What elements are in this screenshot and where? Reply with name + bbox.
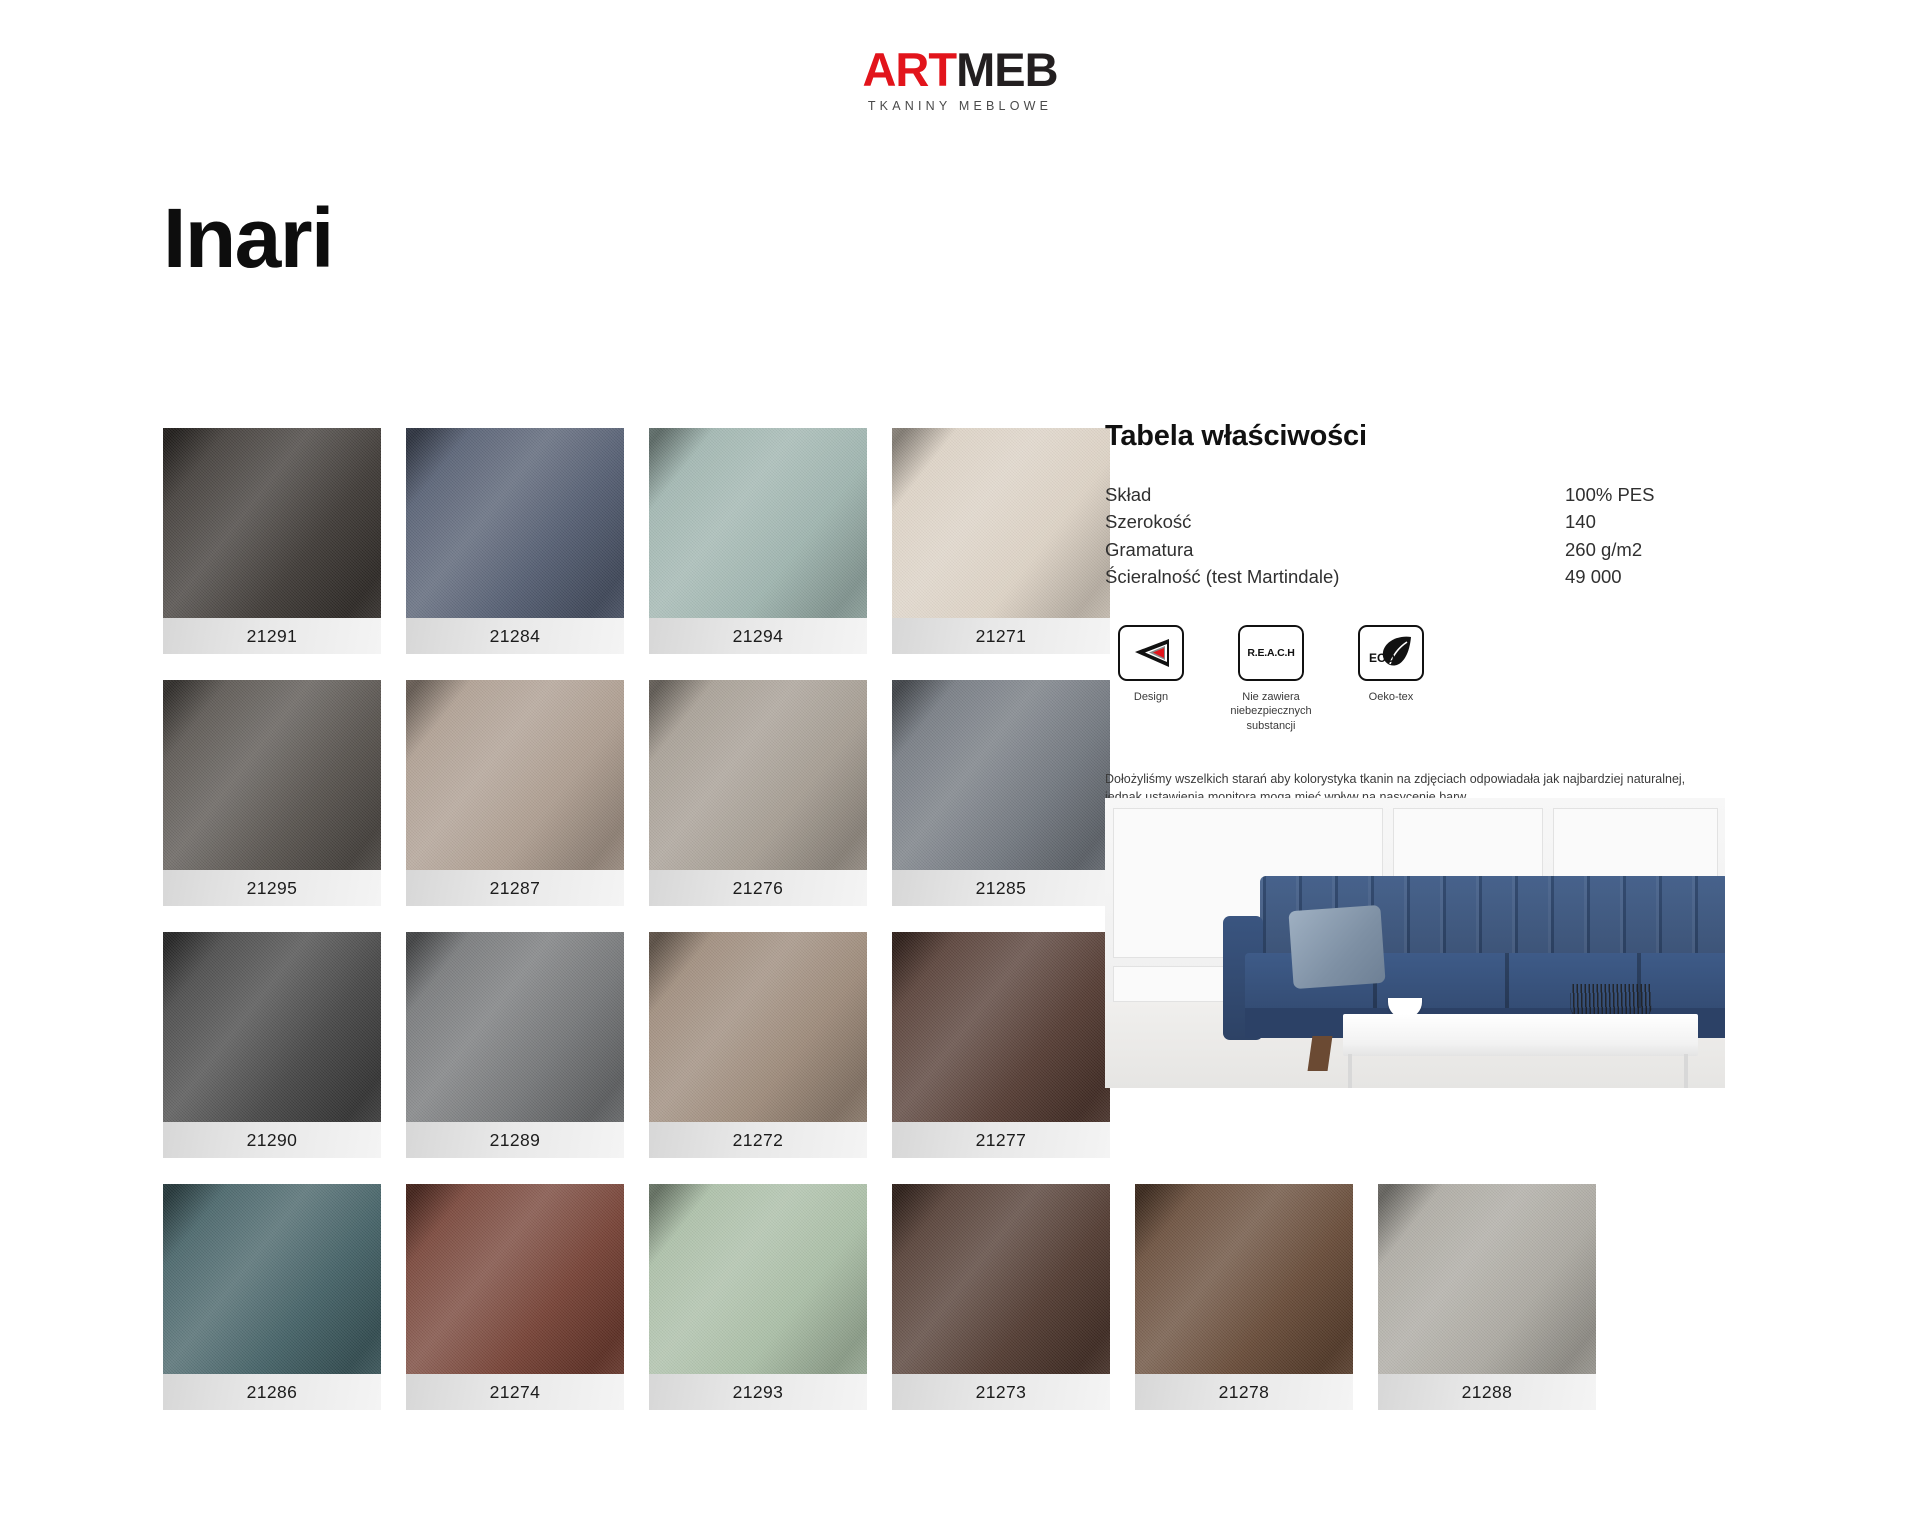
fabric-swatch-code: 21272 — [649, 1122, 867, 1158]
fabric-swatch-code: 21289 — [406, 1122, 624, 1158]
certification-badge: ECOOeko-tex — [1345, 625, 1437, 735]
brand-header: ARTMEB TKANINY MEBLOWE — [0, 46, 1920, 113]
fabric-swatch-code: 21288 — [1378, 1374, 1596, 1410]
fabric-swatch-image — [649, 932, 867, 1122]
fabric-swatch-image — [163, 932, 381, 1122]
fabric-swatch[interactable]: 21291 — [163, 428, 381, 654]
fabric-swatch-image — [649, 680, 867, 870]
property-key: Gramatura — [1105, 536, 1565, 563]
fabric-swatch-code: 21276 — [649, 870, 867, 906]
fabric-swatch[interactable]: 21294 — [649, 428, 867, 654]
fabric-swatch-code: 21294 — [649, 618, 867, 654]
cushion — [1288, 905, 1385, 989]
reach-icon: R.E.A.C.H — [1238, 625, 1304, 681]
logo-tagline: TKANINY MEBLOWE — [868, 99, 1052, 113]
fabric-swatch-image — [892, 680, 1110, 870]
fabric-swatch[interactable]: 21271 — [892, 428, 1110, 654]
property-value: 140 — [1565, 508, 1725, 535]
artmeb-logo[interactable]: ARTMEB — [862, 46, 1057, 93]
fabric-weave-texture — [406, 428, 624, 618]
collection-title: Inari — [163, 196, 333, 280]
fabric-swatch-image — [406, 680, 624, 870]
fabric-swatch[interactable]: 21277 — [892, 932, 1110, 1158]
fabric-swatch-code: 21295 — [163, 870, 381, 906]
property-row: Ścieralność (test Martindale)49 000 — [1105, 563, 1725, 590]
fabric-swatch[interactable]: 21295 — [163, 680, 381, 906]
fabric-swatch-image — [892, 932, 1110, 1122]
fabric-swatch-image — [406, 932, 624, 1122]
design-triangle-icon — [1118, 625, 1184, 681]
fabric-weave-texture — [163, 1184, 381, 1374]
fabric-weave-texture — [649, 932, 867, 1122]
fabric-swatch-image — [649, 428, 867, 618]
coffee-table-legs — [1348, 1054, 1688, 1088]
fabric-weave-texture — [1135, 1184, 1353, 1374]
property-value: 260 g/m2 — [1565, 536, 1725, 563]
fabric-swatch-image — [892, 1184, 1110, 1374]
fabric-swatch-code: 21277 — [892, 1122, 1110, 1158]
fabric-swatch-image — [163, 680, 381, 870]
fabric-weave-texture — [163, 680, 381, 870]
reach-label: R.E.A.C.H — [1247, 647, 1294, 659]
fabric-swatch[interactable]: 21288 — [1378, 1184, 1596, 1410]
fabric-swatch-image — [1378, 1184, 1596, 1374]
properties-title: Tabela właściwości — [1105, 420, 1725, 453]
certification-badge: R.E.A.C.HNie zawiera niebezpiecznych sub… — [1225, 625, 1317, 735]
fabric-swatch[interactable]: 21290 — [163, 932, 381, 1158]
fabric-weave-texture — [892, 428, 1110, 618]
property-key: Skład — [1105, 481, 1565, 508]
fabric-weave-texture — [892, 932, 1110, 1122]
fabric-swatch[interactable]: 21293 — [649, 1184, 867, 1410]
property-key: Szerokość — [1105, 508, 1565, 535]
fabric-swatch[interactable]: 21285 — [892, 680, 1110, 906]
fabric-weave-texture — [406, 932, 624, 1122]
fabric-swatch-image — [892, 428, 1110, 618]
fabric-swatch-image — [163, 1184, 381, 1374]
badge-caption: Design — [1134, 690, 1168, 705]
property-value: 100% PES — [1565, 481, 1725, 508]
fabric-swatch[interactable]: 21284 — [406, 428, 624, 654]
fabric-weave-texture — [649, 680, 867, 870]
fabric-swatch-code: 21293 — [649, 1374, 867, 1410]
properties-table: Skład100% PESSzerokość140Gramatura260 g/… — [1105, 481, 1725, 591]
fabric-swatch-code: 21287 — [406, 870, 624, 906]
badge-caption: Nie zawiera niebezpiecznych substancji — [1225, 690, 1317, 735]
fabric-weave-texture — [892, 1184, 1110, 1374]
fabric-swatch-code: 21290 — [163, 1122, 381, 1158]
eco-leaf-icon: ECO — [1358, 625, 1424, 681]
swatch-row: 212862127421293212732127821288 — [163, 1184, 1563, 1410]
fabric-weave-texture — [1378, 1184, 1596, 1374]
fabric-weave-texture — [649, 428, 867, 618]
properties-panel: Tabela właściwości Skład100% PESSzerokoś… — [1105, 420, 1725, 846]
fabric-swatch-code: 21284 — [406, 618, 624, 654]
fabric-weave-texture — [406, 680, 624, 870]
fabric-swatch[interactable]: 21272 — [649, 932, 867, 1158]
fabric-swatch-image — [649, 1184, 867, 1374]
fabric-swatch-code: 21273 — [892, 1374, 1110, 1410]
fabric-swatch[interactable]: 21289 — [406, 932, 624, 1158]
fabric-swatch[interactable]: 21286 — [163, 1184, 381, 1410]
fabric-weave-texture — [163, 932, 381, 1122]
fabric-weave-texture — [163, 428, 381, 618]
interior-photo — [1105, 798, 1725, 1088]
logo-text-art: ART — [862, 43, 956, 96]
fabric-swatch-code: 21278 — [1135, 1374, 1353, 1410]
fabric-swatch[interactable]: 21287 — [406, 680, 624, 906]
logo-text-meb: MEB — [956, 43, 1057, 96]
svg-text:ECO: ECO — [1369, 651, 1395, 665]
fabric-swatch-image — [406, 428, 624, 618]
badge-caption: Oeko-tex — [1369, 690, 1414, 705]
fabric-swatch[interactable]: 21276 — [649, 680, 867, 906]
fabric-swatch[interactable]: 21273 — [892, 1184, 1110, 1410]
property-value: 49 000 — [1565, 563, 1725, 590]
fabric-swatch-code: 21271 — [892, 618, 1110, 654]
fabric-swatch-code: 21274 — [406, 1374, 624, 1410]
fabric-swatch[interactable]: 21278 — [1135, 1184, 1353, 1410]
property-row: Szerokość140 — [1105, 508, 1725, 535]
fabric-weave-texture — [406, 1184, 624, 1374]
property-row: Gramatura260 g/m2 — [1105, 536, 1725, 563]
fabric-swatch-code: 21285 — [892, 870, 1110, 906]
fabric-swatch-code: 21286 — [163, 1374, 381, 1410]
fabric-swatch-code: 21291 — [163, 618, 381, 654]
fabric-swatch[interactable]: 21274 — [406, 1184, 624, 1410]
fabric-swatch-image — [406, 1184, 624, 1374]
fabric-swatch-image — [1135, 1184, 1353, 1374]
fabric-swatch-image — [163, 428, 381, 618]
certification-badges: DesignR.E.A.C.HNie zawiera niebezpieczny… — [1105, 625, 1725, 735]
certification-badge: Design — [1105, 625, 1197, 735]
coffee-table-top — [1343, 1014, 1698, 1056]
fabric-weave-texture — [649, 1184, 867, 1374]
property-row: Skład100% PES — [1105, 481, 1725, 508]
fabric-weave-texture — [892, 680, 1110, 870]
property-key: Ścieralność (test Martindale) — [1105, 563, 1565, 590]
